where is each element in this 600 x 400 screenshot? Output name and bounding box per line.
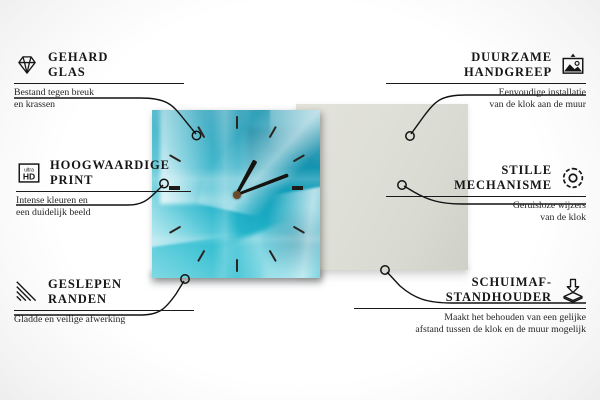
feature-title: STILLE MECHANISME: [454, 163, 552, 193]
gear-icon: [560, 165, 586, 191]
feature-header: STILLE MECHANISME: [386, 163, 586, 193]
feature-gehard-glas: GEHARD GLAS Bestand tegen breuk en krass…: [14, 50, 184, 110]
divider: [386, 83, 586, 84]
feature-header: DUURZAME HANDGREEP: [386, 50, 586, 80]
feature-title: SCHUIMAF- STANDHOUDER: [446, 275, 552, 305]
divider: [386, 196, 586, 197]
clock-tick: [269, 250, 277, 262]
divider: [14, 310, 194, 311]
foam-spacer-icon: [560, 277, 586, 303]
feature-desc-line2: en krassen: [14, 99, 184, 111]
clock-tick-hour: [292, 186, 303, 190]
feature-duurzame-handgreep: DUURZAME HANDGREEP Eenvoudige installati…: [386, 50, 586, 110]
clock-tick: [293, 154, 305, 162]
feature-header: ultra HD HOOGWAARDIGE PRINT: [16, 158, 191, 188]
feature-desc-line2: een duidelijk beeld: [16, 207, 191, 219]
feature-desc-line1: Bestand tegen breuk: [14, 87, 184, 99]
infographic-stage: GEHARD GLAS Bestand tegen breuk en krass…: [0, 0, 600, 400]
clock-tick: [236, 259, 238, 272]
feature-desc-line1: Eenvoudige installatie: [386, 87, 586, 99]
feature-title: HOOGWAARDIGE PRINT: [50, 158, 170, 188]
clock-tick: [269, 126, 277, 138]
feature-header: SCHUIMAF- STANDHOUDER: [354, 275, 586, 305]
feature-header: GEHARD GLAS: [14, 50, 184, 80]
ultra-hd-icon: ultra HD: [16, 160, 42, 186]
feature-title: GEHARD GLAS: [48, 50, 108, 80]
feature-desc-line1: Maakt het behouden van een gelijke: [354, 312, 586, 324]
feature-desc-line2: van de klok aan de muur: [386, 99, 586, 111]
feature-title: DUURZAME HANDGREEP: [464, 50, 552, 80]
feature-header: GESLEPEN RANDEN: [14, 277, 194, 307]
feature-geslepen-randen: GESLEPEN RANDEN Gladde en veilige afwerk…: [14, 277, 194, 326]
picture-frame-icon: [560, 52, 586, 78]
feature-desc-line1: Geruisloze wijzers: [386, 200, 586, 212]
svg-text:HD: HD: [23, 172, 35, 182]
feature-hoogwaardige-print: ultra HD HOOGWAARDIGE PRINT Intense kleu…: [16, 158, 191, 218]
feature-desc-line1: Intense kleuren en: [16, 195, 191, 207]
feature-stille-mechanisme: STILLE MECHANISME Geruisloze wijzers van…: [386, 163, 586, 223]
feature-desc-line2: afstand tussen de klok en de muur mogeli…: [354, 324, 586, 336]
feature-title: GESLEPEN RANDEN: [48, 277, 122, 307]
clock-tick: [236, 116, 238, 129]
clock-hands-hub: [233, 191, 241, 199]
divider: [16, 191, 191, 192]
clock-tick: [197, 126, 205, 138]
diamond-icon: [14, 52, 40, 78]
feature-schuimafstandhouder: SCHUIMAF- STANDHOUDER Maakt het behouden…: [354, 275, 586, 335]
clock-tick: [197, 250, 205, 262]
feature-desc-line1: Gladde en veilige afwerking: [14, 314, 194, 326]
divider: [14, 83, 184, 84]
glass-reflection: [152, 232, 320, 246]
beveled-edge-icon: [14, 279, 40, 305]
feature-desc-line2: van de klok: [386, 212, 586, 224]
divider: [354, 308, 586, 309]
